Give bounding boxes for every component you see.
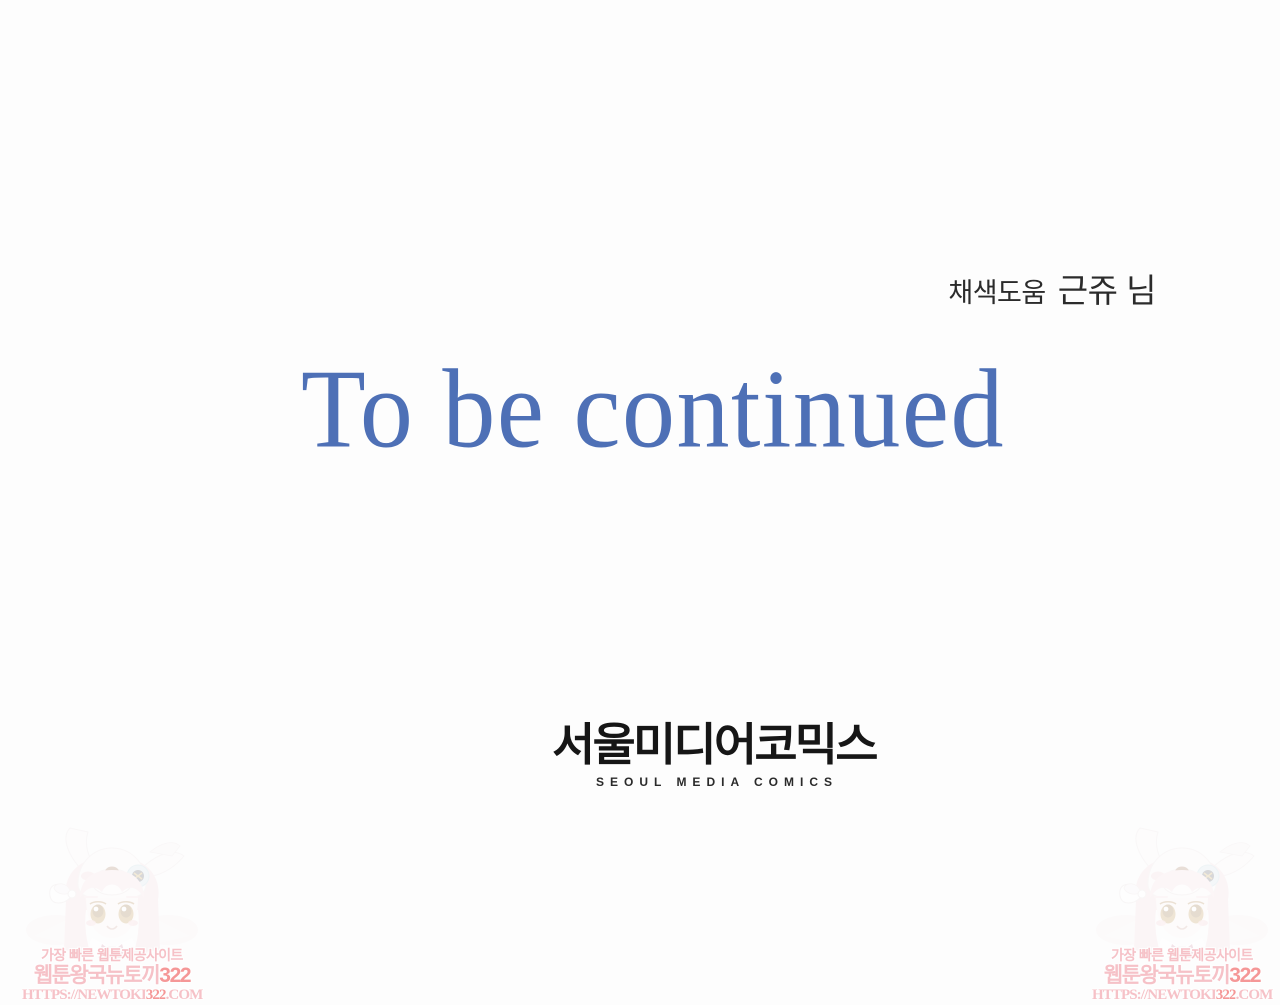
publisher-logo-korean: 서울미디어코믹스: [125, 722, 1280, 768]
watermark-site-number: 322: [1229, 964, 1260, 987]
watermark-site-name-text: 웹툰왕국뉴토끼: [34, 964, 159, 987]
credit-person-name: 근쥬 님: [1058, 272, 1156, 309]
watermark-tagline: 가장 빠른 웹툰제공사이트: [1092, 948, 1272, 962]
watermark-left: 가장 빠른 웹툰제공사이트 웹툰왕국뉴토끼322 HTTPS://NEWTOKI…: [22, 826, 202, 1005]
watermark-url: HTTPS://NEWTOKI322.COM: [1092, 988, 1272, 1003]
watermark-url-number: 322: [1216, 987, 1236, 1003]
watermark-right: 가장 빠른 웹툰제공사이트 웹툰왕국뉴토끼322 HTTPS://NEWTOKI…: [1092, 826, 1272, 1005]
watermark-url-prefix: HTTPS://NEWTOKI: [1092, 987, 1216, 1003]
watermark-site-name-text: 웹툰왕국뉴토끼: [1104, 964, 1229, 987]
credit-role-label: 채색도움: [948, 278, 1045, 308]
comic-page: 채색도움근쥬 님 To be continued 서울미디어코믹스 SEOUL …: [0, 0, 1280, 1005]
publisher-logo: 서울미디어코믹스 SEOUL MEDIA COMICS: [0, 722, 1280, 789]
watermark-url-suffix: .COM: [166, 987, 203, 1003]
watermark-text-left: 가장 빠른 웹툰제공사이트 웹툰왕국뉴토끼322 HTTPS://NEWTOKI…: [22, 948, 202, 1003]
mascot-character-icon: [1092, 826, 1272, 958]
to-be-continued-text: To be continued: [301, 352, 1005, 467]
watermark-text-right: 가장 빠른 웹툰제공사이트 웹툰왕국뉴토끼322 HTTPS://NEWTOKI…: [1092, 948, 1272, 1003]
watermark-url-number: 322: [146, 987, 166, 1003]
watermark-url-prefix: HTTPS://NEWTOKI: [22, 987, 146, 1003]
watermark-tagline: 가장 빠른 웹툰제공사이트: [22, 948, 202, 962]
watermark-url: HTTPS://NEWTOKI322.COM: [22, 988, 202, 1003]
watermark-url-suffix: .COM: [1236, 987, 1273, 1003]
watermark-site-name: 웹툰왕국뉴토끼322: [22, 965, 202, 986]
colorist-credit: 채색도움근쥬 님: [0, 264, 1280, 312]
mascot-character-icon: [22, 826, 202, 958]
to-be-continued-block: To be continued: [0, 352, 1280, 460]
watermark-site-number: 322: [159, 964, 190, 987]
watermark-site-name: 웹툰왕국뉴토끼322: [1092, 965, 1272, 986]
publisher-logo-english: SEOUL MEDIA COMICS: [148, 775, 1280, 789]
